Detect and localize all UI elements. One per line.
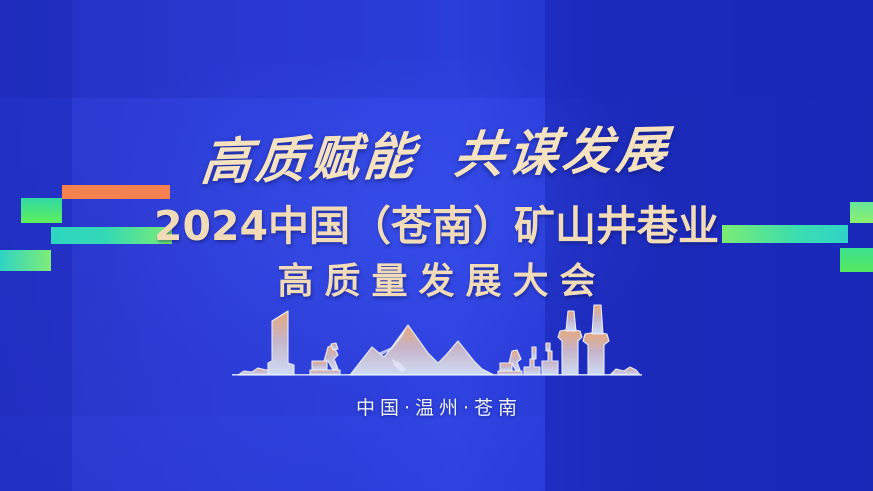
location-label: 中国·温州·苍南 — [0, 393, 873, 420]
slogan-part-left: 高质赋能 — [199, 127, 421, 192]
skyline-illustration — [232, 303, 642, 383]
slogan-part-right: 共谋发展 — [451, 119, 673, 184]
background-band-bottom — [0, 416, 545, 491]
main-title-line-2: 高质量发展大会 — [0, 252, 873, 304]
main-title-line-1: 2024中国（苍南）矿山井巷业 — [0, 192, 873, 252]
conference-banner: 高质赋能共谋发展 2024中国（苍南）矿山井巷业 高质量发展大会 — [0, 0, 873, 491]
slogan-gap — [416, 172, 452, 173]
